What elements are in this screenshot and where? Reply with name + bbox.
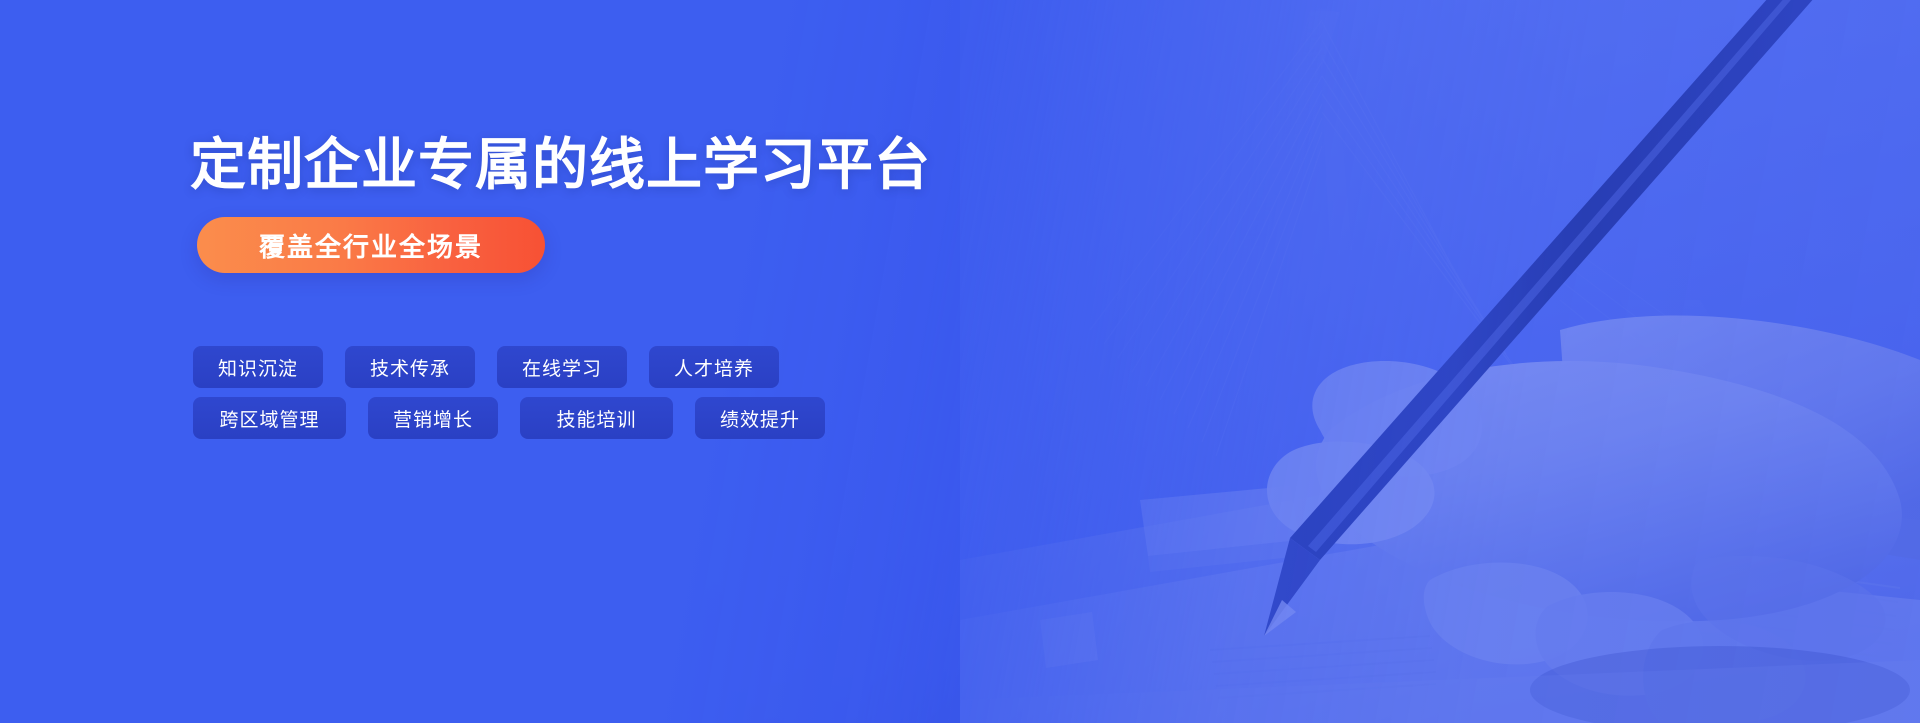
tag-marketing-growth[interactable]: 营销增长	[368, 397, 498, 439]
tag-knowledge-precipitation[interactable]: 知识沉淀	[193, 346, 323, 388]
banner-content: 定制企业专属的线上学习平台 覆盖全行业全场景 知识沉淀 技术传承 在线学习 人才…	[190, 0, 1090, 723]
coverage-cta-button[interactable]: 覆盖全行业全场景	[197, 217, 545, 273]
tag-performance-improvement[interactable]: 绩效提升	[695, 397, 825, 439]
hero-banner: 定制企业专属的线上学习平台 覆盖全行业全场景 知识沉淀 技术传承 在线学习 人才…	[0, 0, 1920, 723]
page-title: 定制企业专属的线上学习平台	[190, 133, 931, 197]
tag-cross-region-management[interactable]: 跨区域管理	[193, 397, 346, 439]
tag-skills-training[interactable]: 技能培训	[520, 397, 673, 439]
tag-row-2: 跨区域管理 营销增长 技能培训 绩效提升	[193, 397, 825, 439]
tag-list: 知识沉淀 技术传承 在线学习 人才培养 跨区域管理 营销增长 技能培训 绩效提升	[193, 346, 825, 439]
tag-talent-development[interactable]: 人才培养	[649, 346, 779, 388]
tag-row-1: 知识沉淀 技术传承 在线学习 人才培养	[193, 346, 825, 388]
tag-online-learning[interactable]: 在线学习	[497, 346, 627, 388]
tag-technology-inheritance[interactable]: 技术传承	[345, 346, 475, 388]
